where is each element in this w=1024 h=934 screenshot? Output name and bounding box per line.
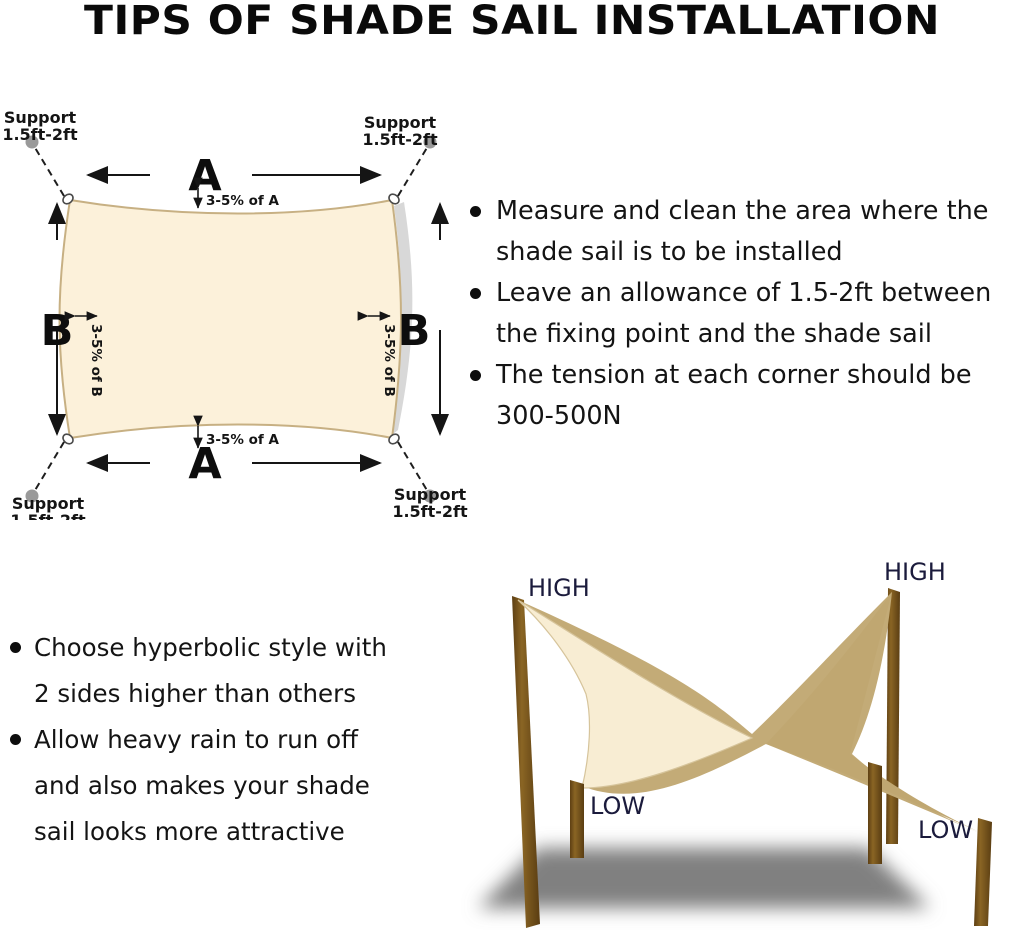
list-item-cont: 2 sides higher than others [2,671,452,716]
curve-label-left-b: 3-5% of B [88,324,104,397]
list-item-cont: 300-500N [462,396,1024,436]
list-item: The tension at each corner should be [462,355,1024,395]
hyperbolic-sail-svg: HIGH HIGH LOW LOW [460,548,1024,934]
label-high-left: HIGH [528,574,590,602]
tip-line: the fixing point and the shade sail [496,319,932,349]
post-front-mid-right [868,762,882,864]
hyperbolic-sail-illustration: HIGH HIGH LOW LOW [460,548,1024,934]
support-label-bottom-left-line2: 1.5ft-2ft [10,511,86,520]
curve-callout-bottom-a: 3-5% of A [198,426,279,448]
bullet-dot-icon [470,370,481,381]
tips-bottom-ul: Choose hyperbolic style with 2 sides hig… [2,625,452,854]
tip-line: Choose hyperbolic style with [34,633,387,662]
dimension-label-b-left: B [41,306,74,356]
list-item: Allow heavy rain to run off [2,717,452,762]
list-item: Choose hyperbolic style with [2,625,452,670]
shade-sail-diagram-svg: Support 1.5ft-2ft Support 1.5ft-2ft Supp… [0,100,470,520]
label-low-right: LOW [918,816,973,844]
support-label-top-left-line2: 1.5ft-2ft [2,125,78,144]
tips-top-ul: Measure and clean the area where the sha… [462,191,1024,436]
bullet-dot-icon [470,206,481,217]
list-item-cont: shade sail is to be installed [462,232,1024,272]
tip-line: shade sail is to be installed [496,237,843,267]
dimension-label-b-right: B [398,306,431,356]
tip-line: 300-500N [496,401,622,431]
list-item-cont: and also makes your shade [2,763,452,808]
ground-shadow [478,848,930,908]
tip-line: 2 sides higher than others [34,679,356,708]
page-title: TIPS OF SHADE SAIL INSTALLATION [0,0,1024,44]
support-label-top-right-line2: 1.5ft-2ft [362,130,438,149]
tips-list-top: Measure and clean the area where the sha… [462,191,1024,437]
tip-line: Leave an allowance of 1.5-2ft between [496,278,991,308]
post-front-right [974,818,992,926]
bullet-dot-icon [10,642,21,653]
support-label-bottom-right-line2: 1.5ft-2ft [392,502,468,520]
post-back-right [886,588,900,844]
label-low-left: LOW [590,792,645,820]
list-item-cont: the fixing point and the shade sail [462,314,1024,354]
post-front-left [570,780,584,858]
list-item: Leave an allowance of 1.5-2ft between [462,273,1024,313]
curve-label-top-a: 3-5% of A [206,193,279,209]
tip-line: Measure and clean the area where the [496,196,988,226]
tip-line: sail looks more attractive [34,817,345,846]
curve-label-right-b: 3-5% of B [381,324,397,397]
label-high-right: HIGH [884,558,946,586]
curve-label-bottom-a: 3-5% of A [206,432,279,448]
shade-sail-shape [60,200,402,438]
tip-line: and also makes your shade [34,771,370,800]
tip-line: The tension at each corner should be [496,360,972,390]
tips-list-bottom: Choose hyperbolic style with 2 sides hig… [2,625,452,855]
list-item: Measure and clean the area where the [462,191,1024,231]
list-item-cont: sail looks more attractive [2,809,452,854]
top-measurement-diagram: Support 1.5ft-2ft Support 1.5ft-2ft Supp… [0,100,470,520]
tip-line: Allow heavy rain to run off [34,725,358,754]
bullet-dot-icon [10,734,21,745]
bullet-dot-icon [470,288,481,299]
